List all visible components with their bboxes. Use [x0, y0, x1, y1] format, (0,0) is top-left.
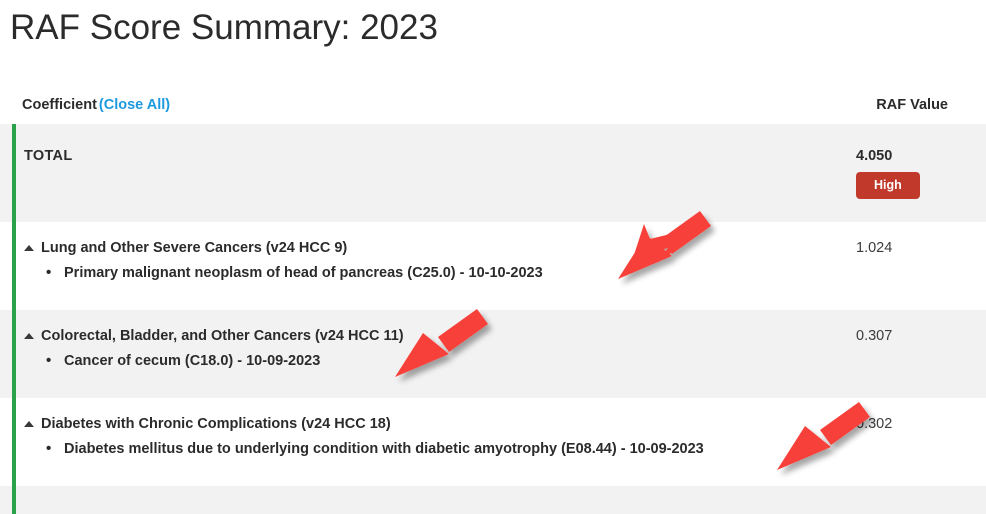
coefficient-row[interactable]: Colorectal, Bladder, and Other Cancers (… [0, 310, 986, 398]
coefficient-title: Diabetes with Chronic Complications (v24… [41, 416, 391, 432]
row-accent-bar [12, 486, 16, 514]
total-value: 4.050 [856, 124, 948, 164]
coefficient-label: Coefficient [22, 97, 97, 113]
row-accent-bar [12, 124, 16, 222]
status-badge: High [856, 172, 920, 199]
row-accent-bar [12, 310, 16, 398]
coefficient-row-partial[interactable] [0, 486, 986, 514]
raf-value: 0.307 [856, 310, 948, 344]
close-all-link[interactable]: (Close All) [99, 97, 170, 113]
coefficient-row[interactable]: Lung and Other Severe Cancers (v24 HCC 9… [0, 222, 986, 310]
coefficient-row-body: Diabetes with Chronic Complications (v24… [0, 398, 856, 457]
coefficient-rows: TOTAL 4.050 High Lung and Other Severe C… [0, 124, 986, 514]
caret-up-icon[interactable] [24, 245, 34, 251]
raf-value: 0.302 [856, 398, 948, 432]
raf-value-column-header: RAF Value [876, 97, 948, 113]
row-accent-bar [12, 398, 16, 486]
coefficient-row-value: 0.302 [856, 398, 986, 432]
coefficient-detail-list: Primary malignant neoplasm of head of pa… [24, 265, 856, 281]
table-header: Coefficient(Close All) RAF Value [0, 90, 986, 120]
coefficient-row-value: 1.024 [856, 222, 986, 256]
coefficient-title: Colorectal, Bladder, and Other Cancers (… [41, 328, 404, 344]
total-label: TOTAL [24, 124, 856, 164]
row-accent-bar [12, 222, 16, 310]
caret-up-icon[interactable] [24, 421, 34, 427]
coefficient-row-header[interactable]: Diabetes with Chronic Complications (v24… [24, 398, 856, 432]
total-row: TOTAL 4.050 High [0, 124, 986, 222]
coefficient-row-body: Lung and Other Severe Cancers (v24 HCC 9… [0, 222, 856, 281]
caret-up-icon[interactable] [24, 333, 34, 339]
coefficient-row-value: 0.307 [856, 310, 986, 344]
coefficient-detail-list: Diabetes mellitus due to underlying cond… [24, 441, 856, 457]
coefficient-row-header[interactable]: Lung and Other Severe Cancers (v24 HCC 9… [24, 222, 856, 256]
raf-value: 1.024 [856, 222, 948, 256]
coefficient-row[interactable]: Diabetes with Chronic Complications (v24… [0, 398, 986, 486]
total-row-body: TOTAL [0, 124, 856, 164]
coefficient-detail-list: Cancer of cecum (C18.0) - 10-09-2023 [24, 353, 856, 369]
page-title: RAF Score Summary: 2023 [10, 6, 438, 50]
raf-score-summary-page: RAF Score Summary: 2023 Coefficient(Clos… [0, 0, 986, 514]
list-item: Cancer of cecum (C18.0) - 10-09-2023 [24, 353, 856, 369]
total-row-value: 4.050 High [856, 124, 986, 199]
list-item: Diabetes mellitus due to underlying cond… [24, 441, 856, 457]
coefficient-row-body: Colorectal, Bladder, and Other Cancers (… [0, 310, 856, 369]
list-item: Primary malignant neoplasm of head of pa… [24, 265, 856, 281]
coefficient-column-header: Coefficient(Close All) [22, 97, 170, 113]
coefficient-title: Lung and Other Severe Cancers (v24 HCC 9… [41, 240, 347, 256]
coefficient-row-header[interactable]: Colorectal, Bladder, and Other Cancers (… [24, 310, 856, 344]
